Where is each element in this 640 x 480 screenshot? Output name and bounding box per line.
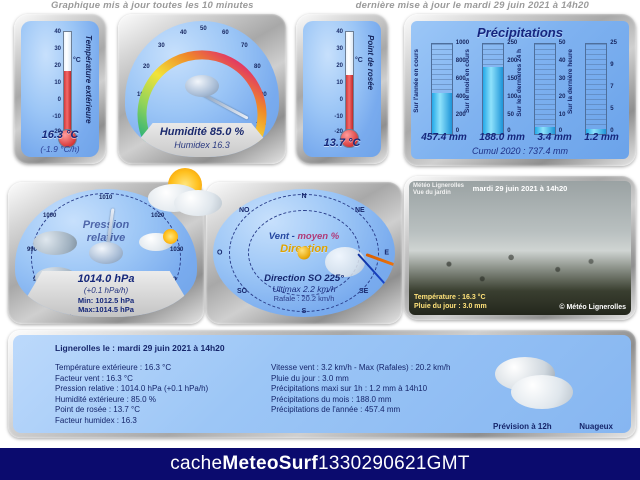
footer-prefix: cache [170, 453, 222, 475]
precip-bar-24h: Sur les dernières 24 h 50 40 30 20 10 0 [522, 43, 570, 141]
compass-hub [298, 247, 311, 260]
forecast-text: Nuageux [579, 422, 613, 431]
webcam-panel[interactable]: Météo Lignerolles Vue du jardin mardi 29… [404, 176, 636, 320]
webcam-temp-overlay: Température : 16.3 °C [414, 294, 486, 301]
forecast-block: Prévision à 12h Nuageux [489, 349, 617, 433]
precip-bar-hour: Sur la dernière heure 25 9 7 5 0 [573, 43, 621, 141]
webcam-station-label: Météo Lignerolles Vue du jardin [413, 183, 464, 197]
precip-bar-month: Sur le mois en cours 250 200 150 100 50 … [470, 43, 518, 141]
precip-bar-year: Sur l'année en cours 1000 800 600 400 20… [419, 43, 467, 141]
central-weather-icon [148, 168, 226, 222]
humidity-dial[interactable]: 0 10 20 30 40 50 60 70 80 90 100 [118, 14, 286, 164]
precipitation-title: Précipitations [411, 25, 629, 40]
webcam-image: Météo Lignerolles Vue du jardin mardi 29… [409, 181, 631, 315]
dewpoint-label: Point de rosée [359, 35, 375, 135]
footer-bar: cache MeteoSurf 1330290621GMT [0, 448, 640, 480]
forecast-time: Prévision à 12h [493, 422, 552, 431]
precipitation-panel[interactable]: Précipitations Sur l'année en cours 1000… [404, 14, 636, 166]
dewpoint-thermometer[interactable]: 40 30 20 10 0 -10 -20 °C Point de rosée … [296, 14, 388, 164]
pressure-readout: 1014.0 hPa (+0.1 hPa/h) Min: 1012.5 hPa … [15, 271, 197, 317]
footer-code: 1330290621GMT [318, 453, 470, 475]
weather-dashboard: Graphique mis à jour toutes les 10 minut… [0, 0, 640, 480]
thermometer-tube [63, 31, 72, 135]
header-left-text: Graphique mis à jour toutes les 10 minut… [51, 0, 254, 11]
temperature-thermometer[interactable]: 40 30 20 10 0 -10 -20 °C Température ext… [14, 14, 106, 164]
summary-panel[interactable]: Lignerolles le : mardi 29 juin 2021 à 14… [8, 330, 636, 438]
temperature-trend: (-1.9 °C/h) [21, 144, 99, 154]
header-strip: Graphique mis à jour toutes les 10 minut… [0, 0, 640, 12]
summary-right-column: Vitesse vent : 3.2 km/h - Max (Rafales) … [271, 363, 450, 416]
header-right-text: dernière mise à jour le mardi 29 juin 20… [356, 0, 589, 11]
precipitation-cumul: Cumul 2020 : 737.4 mm [411, 146, 629, 156]
webcam-copyright: © Météo Lignerolles [559, 304, 626, 311]
summary-heading: Lignerolles le : mardi 29 juin 2021 à 14… [55, 343, 225, 353]
dial-hub [185, 75, 219, 97]
wind-values: Direction SO 225° Ultimax 2.2 km/h Rafal… [213, 273, 395, 303]
temperature-scale: 40 30 20 10 0 -10 -20 [29, 29, 61, 137]
dewpoint-value: 13.7 °C [303, 137, 381, 149]
precipitation-values: 457.4 mm 188.0 mm 3.4 mm 1.2 mm [415, 132, 625, 143]
wind-compass[interactable]: N NE E SE S SO O NO Vent - moyen % Direc… [206, 182, 402, 324]
temperature-value: 16.3 °C [21, 129, 99, 141]
dewpoint-scale: 40 30 20 10 0 -10 -20 [311, 29, 343, 137]
webcam-timestamp: mardi 29 juin 2021 à 14h20 [409, 184, 631, 193]
footer-brand: MeteoSurf [222, 453, 318, 475]
webcam-rain-overlay: Pluie du jour : 3.0 mm [414, 303, 487, 310]
wind-title: Vent - moyen % [213, 231, 395, 242]
pressure-hub [89, 242, 123, 264]
precipitation-bars: Sur l'année en cours 1000 800 600 400 20… [417, 43, 623, 141]
forecast-cloud-icon-2 [511, 375, 573, 409]
dewpoint-tube [345, 31, 354, 135]
temperature-label: Température extérieure [77, 35, 93, 135]
summary-left-column: Température extérieure : 16.3 °C Facteur… [55, 363, 208, 427]
